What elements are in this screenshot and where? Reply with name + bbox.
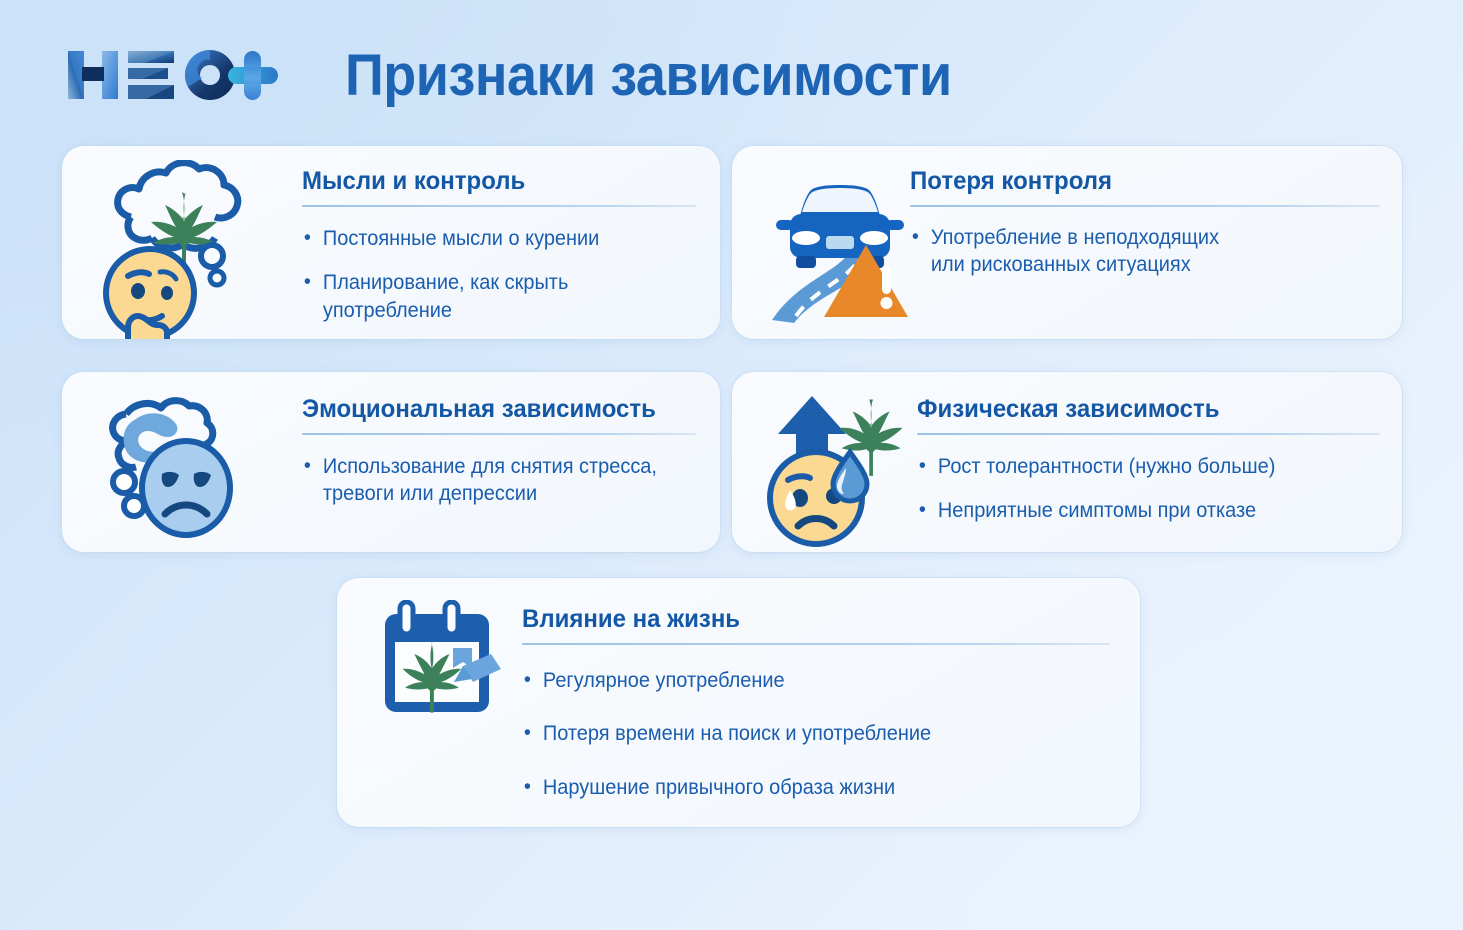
list-item: Постоянные мысли о курении xyxy=(302,225,676,253)
card-physical-dependence: Физическая зависимость Рост толерантност… xyxy=(732,372,1402,552)
sad-blue-face-thought-cloud-icon xyxy=(84,386,254,551)
card-emotional-dependence: Эмоциональная зависимость Использование … xyxy=(62,372,720,552)
card-title: Эмоциональная зависимость xyxy=(302,396,680,424)
title-divider xyxy=(917,433,1380,435)
bullet-list: Рост толерантности (нужно больше) Неприя… xyxy=(917,453,1380,525)
bullet-list: Употребление в неподходящих или рискован… xyxy=(910,224,1380,279)
car-road-warning-triangle-icon xyxy=(754,160,919,335)
list-item: Регулярное употребление xyxy=(522,667,1081,695)
list-item: Употребление в неподходящих или рискован… xyxy=(910,224,1357,279)
calendar-cannabis-icon xyxy=(377,600,512,730)
bullet-list: Регулярное употребление Потеря времени н… xyxy=(522,667,1110,802)
list-item: Использование для снятия стресса, тревог… xyxy=(302,453,676,508)
card-title: Потеря контроля xyxy=(910,168,1361,196)
bullet-list: Использование для снятия стресса, тревог… xyxy=(302,453,696,508)
title-divider xyxy=(302,205,696,207)
list-item: Потеря времени на поиск и употребление xyxy=(522,720,1081,748)
card-title: Мысли и контроль xyxy=(302,168,680,196)
list-item: Рост толерантности (нужно больше) xyxy=(917,453,1357,481)
logo-neo-plus-icon xyxy=(62,41,282,109)
title-divider xyxy=(302,433,696,435)
list-item: Неприятные симптомы при отказе xyxy=(917,497,1357,525)
list-item: Нарушение привычного образа жизни xyxy=(522,774,1081,802)
title-divider xyxy=(910,205,1380,207)
card-life-impact: Влияние на жизнь Регулярное употребление… xyxy=(337,578,1140,827)
brand-logo xyxy=(62,41,282,109)
card-title: Влияние на жизнь xyxy=(522,606,1086,634)
thinking-face-cannabis-thought-bubble-icon xyxy=(84,160,264,339)
page-title: Признаки зависимости xyxy=(345,42,952,109)
up-arrow-cannabis-sweating-face-icon xyxy=(754,386,929,552)
card-title: Физическая зависимость xyxy=(917,396,1361,424)
infographic-canvas: Признаки зависимости xyxy=(0,0,1463,930)
list-item: Планирование, как скрыть употребление xyxy=(302,269,676,324)
bullet-list: Постоянные мысли о курении Планирование,… xyxy=(302,225,696,325)
card-thoughts-control: Мысли и контроль Постоянные мысли о куре… xyxy=(62,146,720,339)
title-divider xyxy=(522,643,1110,645)
card-loss-of-control: Потеря контроля Употребление в неподходя… xyxy=(732,146,1402,339)
